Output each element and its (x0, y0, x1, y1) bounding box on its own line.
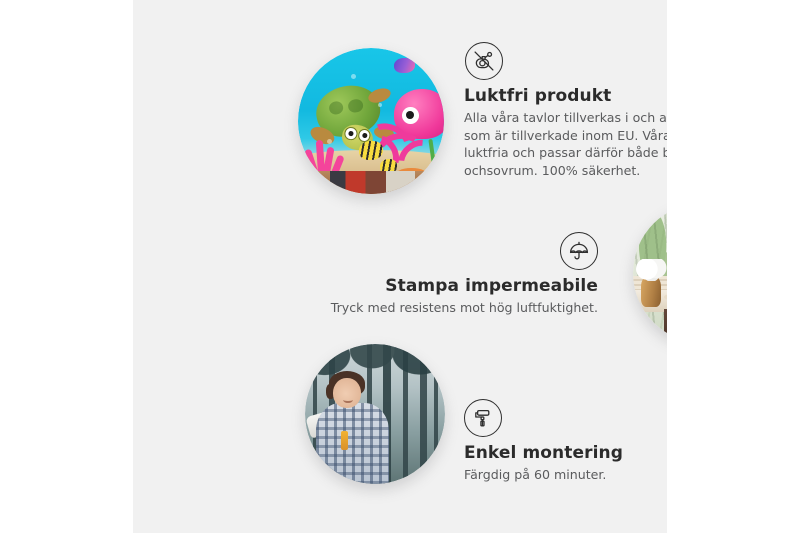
no-fragrance-icon (465, 42, 503, 80)
feature-description: Tryck med resistens mot hög luftfuktighe… (313, 299, 598, 317)
wood-cabinet (664, 309, 667, 343)
striped-fish (359, 141, 382, 160)
paint-roller-icon (464, 399, 502, 437)
feature-waterproof-print: Stampa impermeabile Tryck med resistens … (313, 232, 598, 317)
photo-woman-with-paint-roller (305, 344, 445, 484)
feature-description: Färgdig på 60 minuter. (464, 466, 667, 484)
content-panel: Luktfri produkt Alla våra tavlor tillver… (133, 0, 667, 533)
photo-underwater-inner (298, 48, 444, 194)
feature-title: Stampa impermeabile (313, 276, 598, 296)
feature-odour-free: Luktfri produkt Alla våra tavlor tillver… (464, 42, 667, 179)
umbrella-icon-row (313, 232, 598, 270)
feature-description: Alla våra tavlor tillverkas i och av pro… (464, 109, 667, 179)
photo-bathroom-inner (633, 203, 667, 343)
photo-underwater-kids-mural (298, 48, 444, 194)
purple-fish (394, 58, 414, 73)
photo-woman-inner (305, 344, 445, 484)
photo-bathroom-leaf-wallpaper (633, 203, 667, 343)
feature-easy-mounting: Enkel montering Färgdig på 60 minuter. (464, 399, 667, 484)
infographic-root: Luktfri produkt Alla våra tavlor tillver… (0, 0, 800, 533)
feature-title: Luktfri produkt (464, 86, 667, 106)
woman-plaid-shirt (316, 403, 389, 484)
mural-bottom-strip (330, 171, 415, 194)
paint-tool-yellow (341, 431, 348, 451)
woman-face (333, 378, 361, 409)
white-flowers (636, 259, 667, 281)
pink-coral (305, 130, 349, 177)
bubble (351, 74, 356, 79)
forest-canopy (305, 344, 445, 408)
bubble (327, 139, 332, 144)
umbrella-icon (560, 232, 598, 270)
feature-title: Enkel montering (464, 443, 667, 463)
octopus-eye (402, 107, 419, 124)
